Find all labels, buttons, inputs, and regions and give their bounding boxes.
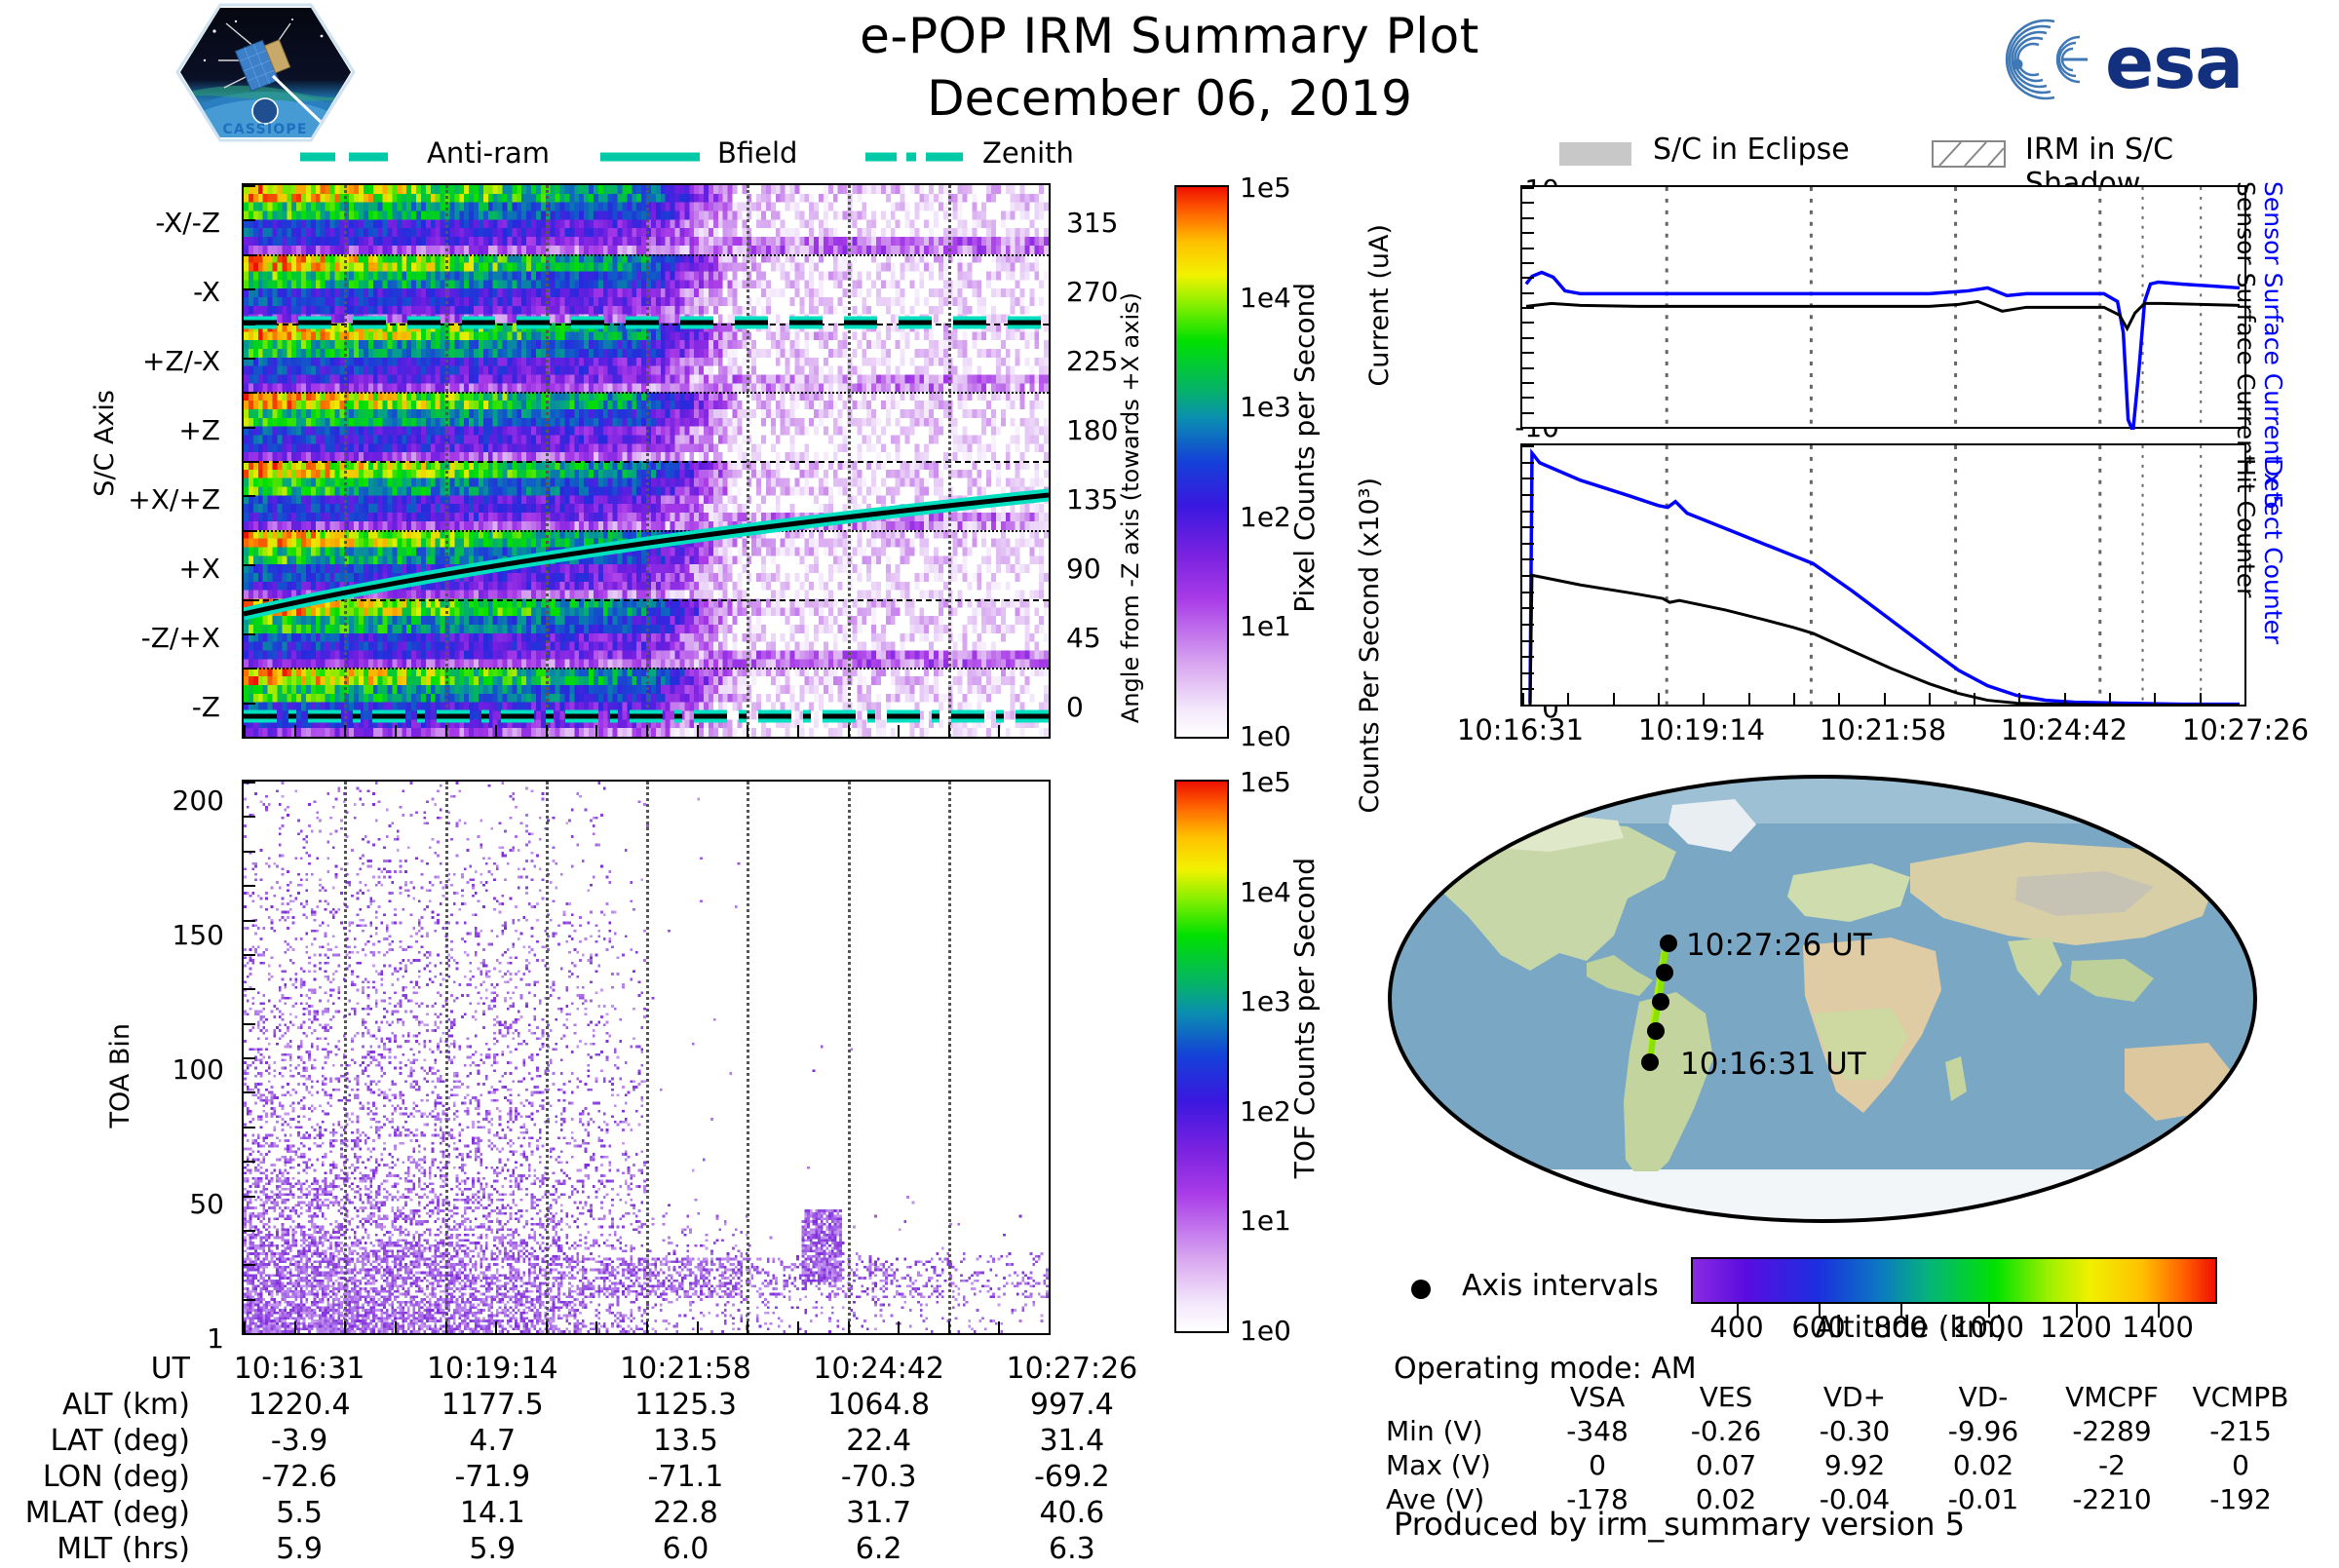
right-time-tick-label: 10:21:58 (1797, 713, 1969, 746)
legend-label-bfield: Bfield (717, 136, 797, 170)
axis-tick-mark (898, 1321, 900, 1333)
axis-tick-mark (244, 668, 255, 669)
axis-tick-mark (898, 725, 900, 737)
track-point-start (1641, 1053, 1659, 1071)
tof-counts-colorbar (1174, 780, 1229, 1333)
tof-colorbar-tick-label: 1e1 (1240, 1205, 1405, 1237)
ephemeris-cell: 10:24:42 (784, 1352, 975, 1386)
legend-label-anti-ram: Anti-ram (427, 136, 550, 170)
voltage-column-header: VES (1663, 1381, 1789, 1413)
ephemeris-cell: 1177.5 (397, 1388, 588, 1422)
map-label-end-time: 10:27:26 UT (1686, 928, 1872, 963)
axis-tick-mark (546, 725, 548, 737)
axis-tick-mark (244, 219, 255, 221)
right-time-tick-label: 10:24:42 (1978, 713, 2150, 746)
voltage-cell: 9.92 (1791, 1449, 1918, 1481)
axis-tick-mark (1522, 575, 1534, 577)
axis-tick-mark (244, 1333, 255, 1335)
ephemeris-cell: -70.3 (784, 1460, 975, 1494)
time-gridline (948, 782, 951, 1333)
axis-tick-mark (244, 599, 255, 601)
right-time-tick-label: 10:19:14 (1616, 713, 1787, 746)
axis-tick-mark (2200, 693, 2202, 705)
eclipse-legend: S/C in Eclipse IRM in S/C Shadow (1520, 134, 2290, 173)
toa-image (244, 782, 1049, 1333)
ephemeris-row-label: LAT (deg) (2, 1424, 202, 1458)
axis-tick-mark (797, 725, 799, 737)
ephemeris-cell: 997.4 (977, 1388, 1168, 1422)
ephemeris-row: LON (deg)-72.6-71.9-71.1-70.3-69.2 (2, 1460, 1168, 1494)
axis-tick-mark (1522, 292, 1534, 294)
ephemeris-cell: 5.5 (204, 1496, 395, 1530)
ephemeris-row: ALT (km)1220.41177.51125.31064.8997.4 (2, 1388, 1168, 1422)
axis-tick-mark (2154, 693, 2156, 705)
axis-tick-mark (1522, 367, 1534, 369)
altitude-tick-mark (2158, 1304, 2160, 1318)
pixel-counts-colorbar (1174, 185, 1229, 739)
axis-tick-mark (546, 1321, 548, 1333)
axis-tick-mark (244, 851, 255, 853)
counts-plot[interactable] (1520, 443, 2246, 707)
axis-tick-mark (1522, 688, 1534, 690)
axis-tick-mark (1049, 1321, 1051, 1333)
toa-ytick-label: 50 (58, 1188, 224, 1220)
axis-tick-mark (244, 288, 255, 290)
voltage-cell: 0.07 (1663, 1449, 1789, 1481)
axis-tick-mark (1567, 693, 1569, 705)
track-point (1656, 964, 1673, 981)
axis-tick-mark (244, 461, 255, 463)
axis-tick-mark (1522, 558, 1534, 560)
axis-tick-mark (1522, 693, 1524, 705)
axis-tick-mark (1748, 693, 1750, 705)
axis-tick-mark (1974, 693, 1975, 705)
axis-tick-mark (1793, 693, 1795, 705)
axis-tick-mark (244, 495, 255, 497)
voltage-column-header: VD+ (1791, 1381, 1918, 1413)
axis-tick-mark (244, 1230, 255, 1232)
axis-tick-mark (244, 1196, 255, 1198)
axis-tick-mark (998, 725, 1000, 737)
voltage-cell: -0.26 (1663, 1415, 1789, 1447)
right-time-tick-label: 10:27:26 (2160, 713, 2331, 746)
time-gridline (646, 782, 649, 1333)
axis-tick-mark (244, 1321, 246, 1333)
ephemeris-cell: 1220.4 (204, 1388, 395, 1422)
axis-tick-mark (244, 1023, 255, 1025)
time-gridline (344, 782, 347, 1333)
ephemeris-cell: 10:27:26 (977, 1352, 1168, 1386)
voltage-header-row: VSAVESVD+VD-VMCPFVCMPB (1386, 1381, 2304, 1413)
voltage-cell: 0.02 (1920, 1449, 2047, 1481)
axis-tick-mark (244, 1264, 255, 1266)
axis-tick-mark (1703, 693, 1705, 705)
axis-tick-mark (445, 1321, 447, 1333)
axis-tick-mark (1522, 672, 1534, 674)
ephemeris-cell: -69.2 (977, 1460, 1168, 1494)
pixel-colorbar-tick-label: 1e5 (1240, 172, 1405, 204)
axis-tick-mark (1522, 382, 1534, 384)
axis-tick-mark (948, 1321, 950, 1333)
spectrogram-image (244, 185, 1049, 737)
voltage-column-header: VSA (1534, 1381, 1661, 1413)
axis-tick-mark (1522, 397, 1534, 399)
ephemeris-cell: -71.1 (590, 1460, 781, 1494)
ephemeris-row-label: UT (2, 1352, 202, 1386)
altitude-tick-mark (2076, 1304, 2078, 1318)
axis-tick-mark (2109, 693, 2111, 705)
axis-tick-mark (294, 725, 296, 737)
axis-tick-mark (1522, 494, 1534, 496)
ephemeris-cell: -72.6 (204, 1460, 395, 1494)
axis-tick-mark (244, 564, 255, 566)
axis-tick-mark (2018, 693, 2020, 705)
toa-plot[interactable] (242, 780, 1051, 1335)
axis-tick-mark (395, 1321, 397, 1333)
axis-tick-mark (1522, 511, 1534, 513)
axis-tick-mark (244, 633, 255, 635)
voltage-cell: 0 (2177, 1449, 2304, 1481)
axis-tick-mark (1658, 693, 1660, 705)
tof-colorbar-tick-label: 1e4 (1240, 876, 1405, 908)
axis-tick-mark (244, 254, 255, 256)
altitude-colorbar-label: Altitude (km) (1815, 1311, 2007, 1345)
ephemeris-row: LAT (deg)-3.94.713.522.431.4 (2, 1424, 1168, 1458)
spectrogram-ytick-label: +Z (55, 414, 220, 446)
ephemeris-cell: 22.8 (590, 1496, 781, 1530)
voltage-cell: -192 (2177, 1483, 2304, 1515)
esa-logo-icon: esa (1978, 8, 2271, 110)
voltage-column-header: VD- (1920, 1381, 2047, 1413)
axis-tick-mark (1522, 656, 1534, 658)
axis-tick-mark (1838, 693, 1840, 705)
spectrogram-legend: Anti-ram Bfield Zenith (242, 136, 1051, 177)
ephemeris-row-label: MLAT (deg) (2, 1496, 202, 1530)
cassiope-mission-patch-icon: CASSIOPE (175, 2, 356, 143)
svg-text:esa: esa (2105, 21, 2243, 105)
spectrogram-ytick-label: -X/-Z (55, 207, 220, 239)
svg-text:CASSIOPE: CASSIOPE (222, 122, 307, 137)
axis-intervals-dot-icon (1408, 1275, 1438, 1304)
axis-tick-mark (1522, 187, 1534, 189)
bfield-line-icon (598, 142, 706, 172)
axis-tick-mark (1522, 248, 1534, 249)
map-label-start-time: 10:16:31 UT (1680, 1047, 1866, 1082)
ephemeris-row-label: LON (deg) (2, 1460, 202, 1494)
axis-tick-mark (244, 1161, 255, 1163)
pixel-colorbar-tick-label: 1e3 (1240, 391, 1405, 423)
axis-tick-mark (848, 1321, 850, 1333)
voltage-table: VSAVESVD+VD-VMCPFVCMPBMin (V)-348-0.26-0… (1384, 1379, 2306, 1517)
toa-ytick-label: 100 (58, 1053, 224, 1086)
axis-tick-mark (244, 1091, 255, 1093)
voltage-row-label: Max (V) (1386, 1449, 1532, 1481)
ephemeris-cell: 1064.8 (784, 1388, 975, 1422)
time-gridline (848, 782, 851, 1333)
altitude-colorbar (1691, 1257, 2217, 1304)
voltage-row-label: Min (V) (1386, 1415, 1532, 1447)
axis-tick-mark (948, 725, 950, 737)
ephemeris-cell: 5.9 (204, 1532, 395, 1566)
voltage-corner-cell (1386, 1381, 1532, 1413)
track-point (1647, 1022, 1665, 1040)
axis-tick-mark (244, 324, 255, 325)
voltage-cell: -2 (2049, 1449, 2175, 1481)
axis-tick-mark (244, 725, 246, 737)
axis-tick-mark (244, 392, 255, 394)
axis-tick-mark (344, 725, 346, 737)
right-time-tick-label: 10:16:31 (1435, 713, 1606, 746)
axis-tick-mark (1522, 478, 1534, 479)
tof-colorbar-tick-label: 1e2 (1240, 1095, 1405, 1128)
toa-ytick-label: 150 (58, 919, 224, 951)
axis-tick-mark (1522, 337, 1534, 339)
axis-tick-mark (1522, 217, 1534, 219)
axis-tick-mark (2244, 693, 2246, 705)
ephemeris-cell: 31.4 (977, 1424, 1168, 1458)
ephemeris-cell: -71.9 (397, 1460, 588, 1494)
axis-tick-mark (244, 885, 255, 887)
axis-tick-mark (244, 185, 255, 187)
axis-tick-mark (244, 1057, 255, 1059)
axis-tick-mark (244, 816, 255, 818)
toa-ytick-label: 200 (58, 784, 224, 817)
axis-tick-mark (2064, 693, 2066, 705)
ephemeris-cell: 31.7 (784, 1496, 975, 1530)
axis-tick-mark (697, 1321, 699, 1333)
voltage-cell: -0.30 (1791, 1415, 1918, 1447)
current-right-label-black: Sensor Surface Current (2232, 181, 2260, 465)
current-ylabel: Current (uA) (1364, 224, 1395, 387)
axis-tick-mark (495, 1321, 497, 1333)
axis-tick-mark (1884, 693, 1886, 705)
map-marker-legend-label: Axis intervals (1462, 1269, 1659, 1303)
axis-tick-mark (244, 954, 255, 956)
anti-ram-line-icon (298, 142, 415, 172)
ephemeris-cell: 1125.3 (590, 1388, 781, 1422)
time-gridline (445, 782, 448, 1333)
time-gridline (546, 782, 549, 1333)
ephemeris-row: MLAT (deg)5.514.122.831.740.6 (2, 1496, 1168, 1530)
axis-tick-mark (1522, 427, 1534, 429)
spectrogram-overlays (244, 185, 1049, 737)
zenith-line-icon (863, 142, 971, 172)
voltage-cell: -2210 (2049, 1483, 2175, 1515)
axis-tick-mark (1522, 202, 1534, 204)
axis-tick-mark (1049, 725, 1051, 737)
axis-tick-mark (1522, 352, 1534, 354)
voltage-row: Max (V)00.079.920.02-20 (1386, 1449, 2304, 1481)
axis-tick-mark (848, 725, 850, 737)
altitude-tick-mark (1737, 1304, 1739, 1318)
ephemeris-cell: -3.9 (204, 1424, 395, 1458)
legend-label-zenith: Zenith (982, 136, 1074, 170)
time-gridline (747, 782, 749, 1333)
irm-shadow-hatch-icon (1932, 140, 2006, 168)
spectrogram-ytick-label: -Z/+X (55, 622, 220, 654)
axis-tick-mark (445, 725, 447, 737)
ephemeris-cell: 10:21:58 (590, 1352, 781, 1386)
ephemeris-cell: 6.2 (784, 1532, 975, 1566)
ephemeris-cell: 13.5 (590, 1424, 781, 1458)
axis-tick-mark (1522, 526, 1534, 528)
axis-tick-mark (244, 988, 255, 990)
ephemeris-cell: 40.6 (977, 1496, 1168, 1530)
axis-tick-mark (595, 725, 597, 737)
axis-tick-mark (1522, 640, 1534, 642)
voltage-column-header: VMCPF (2049, 1381, 2175, 1413)
ephemeris-cell: 10:16:31 (204, 1352, 395, 1386)
axis-tick-mark (244, 1299, 255, 1301)
counts-right-label-blue: Detect Counter (2259, 458, 2287, 644)
axis-tick-mark (244, 530, 255, 532)
ephemeris-row: UT10:16:3110:19:1410:21:5810:24:4210:27:… (2, 1352, 1168, 1386)
axis-tick-mark (244, 920, 255, 922)
axis-tick-mark (244, 782, 255, 784)
legend-label-sc-eclipse: S/C in Eclipse (1653, 133, 1850, 167)
track-point (1652, 993, 1669, 1011)
axis-tick-mark (1522, 412, 1534, 414)
axis-tick-mark (1522, 277, 1534, 279)
axis-tick-mark (697, 725, 699, 737)
ephemeris-cell: 6.3 (977, 1532, 1168, 1566)
voltage-cell: -215 (2177, 1415, 2304, 1447)
axis-tick-mark (244, 427, 255, 429)
axis-tick-mark (1522, 705, 1534, 707)
counts-curves (1522, 445, 2244, 708)
axis-tick-mark (1522, 262, 1534, 264)
axis-tick-mark (1522, 232, 1534, 234)
tof-colorbar-tick-label: 1e0 (1240, 1315, 1405, 1347)
produced-by-text: Produced by irm_summary version 5 (1394, 1506, 1965, 1543)
voltage-cell: -348 (1534, 1415, 1661, 1447)
axis-tick-mark (495, 725, 497, 737)
ephemeris-row-label: ALT (km) (2, 1388, 202, 1422)
ephemeris-cell: 22.4 (784, 1424, 975, 1458)
voltage-cell: -9.96 (1920, 1415, 2047, 1447)
spectrogram-right-ylabel: Angle from -Z axis (towards +X axis) (1117, 292, 1144, 723)
voltage-row: Min (V)-348-0.26-0.30-9.96-2289-215 (1386, 1415, 2304, 1447)
voltage-cell: -2289 (2049, 1415, 2175, 1447)
spectrogram-ytick-label: -Z (55, 691, 220, 723)
axis-tick-mark (244, 358, 255, 360)
current-plot[interactable] (1520, 185, 2246, 429)
axis-tick-mark (344, 1321, 346, 1333)
axis-tick-mark (294, 1321, 296, 1333)
axis-tick-mark (1522, 462, 1534, 464)
spectrogram-ytick-label: +X (55, 553, 220, 585)
track-point-end (1660, 935, 1677, 952)
spectrogram-overlay-lines (244, 185, 1049, 737)
axis-tick-mark (1522, 607, 1534, 609)
axis-tick-mark (244, 703, 255, 705)
axis-tick-mark (1522, 624, 1534, 626)
axis-tick-mark (646, 725, 648, 737)
axis-tick-mark (1522, 322, 1534, 324)
axis-tick-mark (395, 725, 397, 737)
ephemeris-cell: 14.1 (397, 1496, 588, 1530)
axis-tick-mark (1522, 543, 1534, 545)
ephemeris-cell: 6.0 (590, 1532, 781, 1566)
axis-tick-mark (747, 725, 748, 737)
spectrogram-ytick-label: +X/+Z (55, 483, 220, 516)
axis-tick-mark (1522, 307, 1534, 309)
axis-tick-mark (797, 1321, 799, 1333)
axis-tick-mark (595, 1321, 597, 1333)
ephemeris-cell: 4.7 (397, 1424, 588, 1458)
spectrogram-plot[interactable] (242, 183, 1051, 739)
spectrogram-ytick-label: -X (55, 276, 220, 308)
ephemeris-cell: 10:19:14 (397, 1352, 588, 1386)
axis-tick-mark (244, 737, 255, 739)
voltage-cell: 0 (1534, 1449, 1661, 1481)
spectrogram-ytick-label: +Z/-X (55, 345, 220, 377)
ground-track-map[interactable]: 10:27:26 UT 10:16:31 UT (1384, 770, 2261, 1228)
axis-tick-mark (244, 1127, 255, 1128)
axis-tick-mark (998, 1321, 1000, 1333)
ephemeris-table: UT10:16:3110:19:1410:21:5810:24:4210:27:… (0, 1350, 1169, 1568)
ephemeris-cell: 5.9 (397, 1532, 588, 1566)
sc-eclipse-swatch-icon (1559, 142, 1631, 166)
axis-tick-mark (1522, 445, 1534, 447)
toa-gridlines (244, 782, 1049, 1333)
pixel-counts-colorbar-label: Pixel Counts per Second (1288, 283, 1321, 613)
ephemeris-row: MLT (hrs)5.95.96.06.26.3 (2, 1532, 1168, 1566)
ephemeris-row-label: MLT (hrs) (2, 1532, 202, 1566)
current-curves (1522, 187, 2244, 430)
axis-tick-mark (1929, 693, 1931, 705)
axis-tick-mark (747, 1321, 748, 1333)
tof-colorbar-tick-label: 1e3 (1240, 985, 1405, 1017)
counts-ylabel: Counts Per Second (x10³) (1357, 478, 1384, 814)
tof-counts-colorbar-label: TOF Counts per Second (1288, 858, 1321, 1178)
axis-tick-mark (1613, 693, 1615, 705)
voltage-column-header: VCMPB (2177, 1381, 2304, 1413)
counts-right-label-black: Hit Counter (2232, 458, 2260, 597)
axis-tick-mark (646, 1321, 648, 1333)
axis-tick-mark (1522, 592, 1534, 593)
